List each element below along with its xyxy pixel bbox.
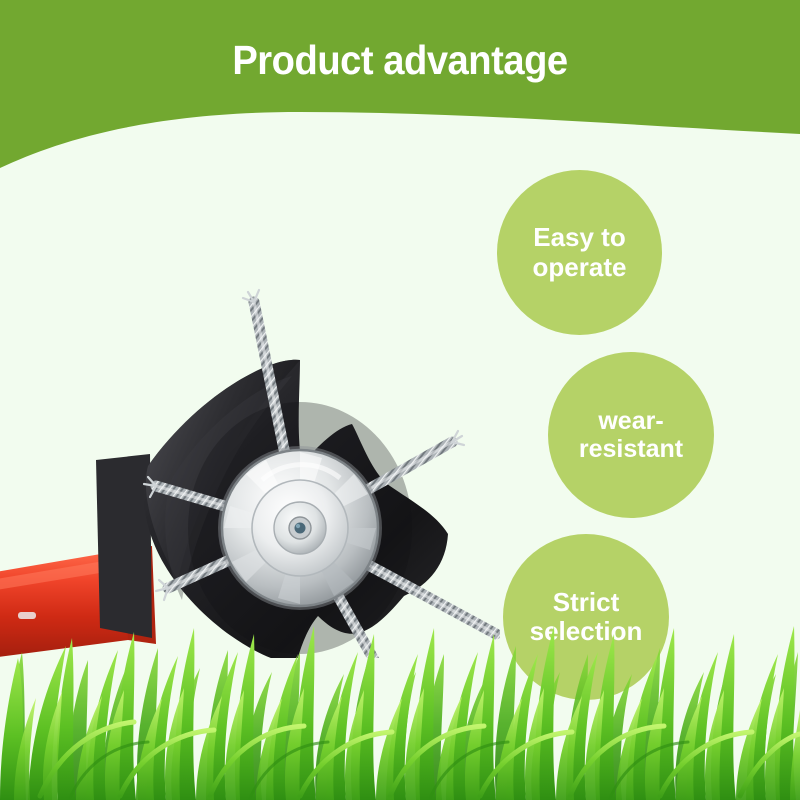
feature-bubble-wear-resistant[interactable]: wear- resistant [548, 352, 714, 518]
grass-strip [0, 590, 800, 800]
page-title: Product advantage [28, 38, 772, 83]
center-bolt [295, 523, 306, 534]
feature-bubble-easy-to-operate[interactable]: Easy to operate [497, 170, 662, 335]
header-curve-shape [0, 0, 800, 200]
header-band [0, 0, 800, 200]
metal-hub [218, 446, 382, 610]
product-advantage-poster: Product advantage [0, 0, 800, 800]
